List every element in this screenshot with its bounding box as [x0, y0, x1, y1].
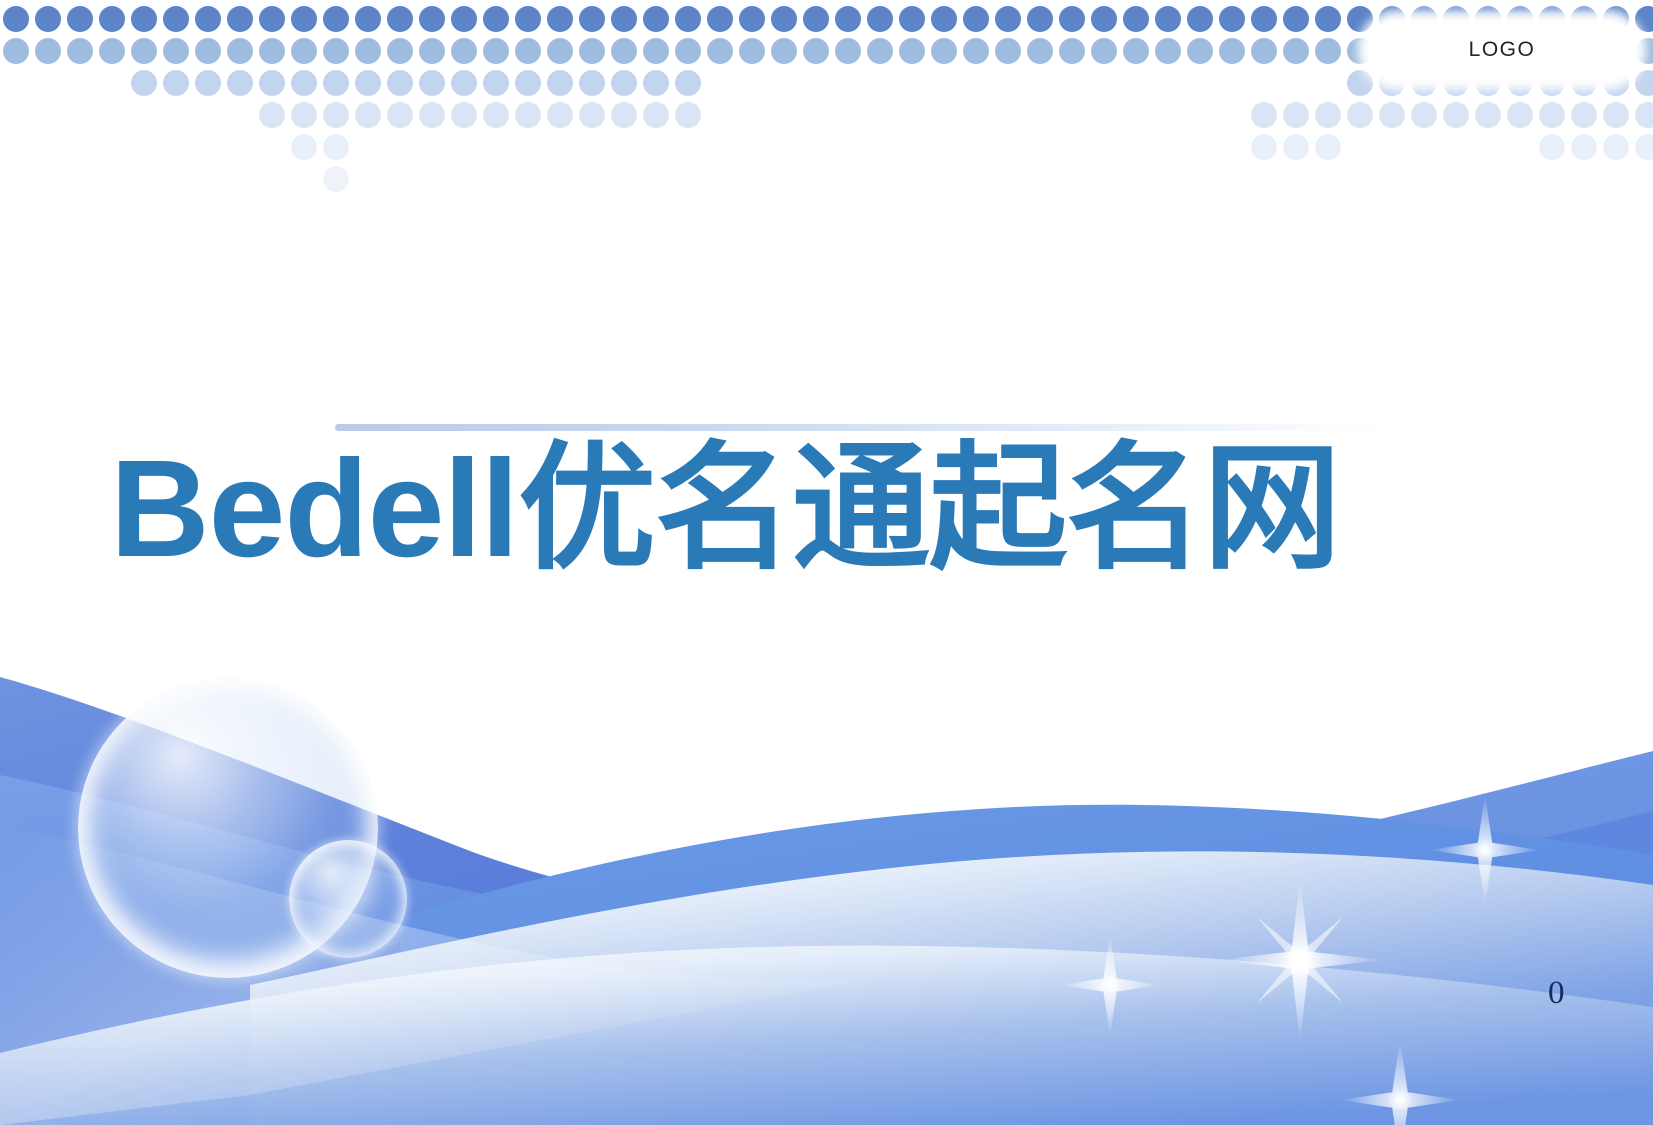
grid-dot — [1283, 38, 1309, 64]
grid-dot — [1283, 6, 1309, 32]
grid-dot — [1315, 134, 1341, 160]
grid-dot — [1283, 102, 1309, 128]
grid-dot — [3, 38, 29, 64]
grid-dot — [1123, 6, 1149, 32]
grid-dot — [1411, 102, 1437, 128]
grid-dot — [163, 6, 189, 32]
grid-dot — [739, 38, 765, 64]
grid-dot — [387, 38, 413, 64]
grid-dot — [867, 38, 893, 64]
grid-dot — [675, 102, 701, 128]
grid-dot — [1347, 70, 1373, 96]
grid-dot — [259, 102, 285, 128]
grid-dot — [1251, 38, 1277, 64]
grid-dot — [963, 6, 989, 32]
logo-placeholder-label: LOGO — [1469, 38, 1536, 62]
grid-dot — [323, 134, 349, 160]
grid-dot — [835, 38, 861, 64]
grid-dot — [547, 70, 573, 96]
grid-dot — [163, 70, 189, 96]
grid-dot — [1219, 6, 1245, 32]
grid-dot — [1635, 102, 1653, 128]
grid-dot — [131, 38, 157, 64]
grid-dot — [995, 38, 1021, 64]
grid-dot — [579, 38, 605, 64]
grid-dot — [99, 6, 125, 32]
grid-dot — [1379, 102, 1405, 128]
grid-dot — [483, 6, 509, 32]
grid-dot — [195, 70, 221, 96]
grid-dot — [419, 102, 445, 128]
grid-dot — [579, 102, 605, 128]
page-number: 0 — [1548, 975, 1565, 1012]
grid-dot — [419, 38, 445, 64]
grid-dot — [707, 38, 733, 64]
grid-dot — [131, 70, 157, 96]
grid-dot — [579, 70, 605, 96]
grid-dot — [547, 38, 573, 64]
grid-dot — [1603, 102, 1629, 128]
grid-dot — [195, 6, 221, 32]
grid-dot — [195, 38, 221, 64]
grid-dot — [899, 6, 925, 32]
grid-dot — [675, 6, 701, 32]
grid-dot — [99, 38, 125, 64]
grid-dot — [611, 70, 637, 96]
grid-dot — [899, 38, 925, 64]
grid-dot — [67, 6, 93, 32]
grid-dot — [611, 38, 637, 64]
grid-dot — [355, 70, 381, 96]
grid-dot — [355, 38, 381, 64]
grid-dot — [547, 6, 573, 32]
grid-dot — [483, 70, 509, 96]
grid-dot — [419, 70, 445, 96]
grid-dot — [835, 6, 861, 32]
grid-dot — [771, 38, 797, 64]
grid-dot — [1539, 102, 1565, 128]
grid-dot — [483, 102, 509, 128]
grid-dot — [1603, 134, 1629, 160]
grid-dot — [323, 102, 349, 128]
grid-dot — [227, 38, 253, 64]
grid-dot — [675, 70, 701, 96]
grid-dot — [291, 38, 317, 64]
grid-dot — [675, 38, 701, 64]
grid-dot — [515, 6, 541, 32]
grid-dot — [643, 70, 669, 96]
grid-dot — [451, 70, 477, 96]
grid-dot — [995, 6, 1021, 32]
grid-dot — [419, 6, 445, 32]
grid-dot — [387, 70, 413, 96]
grid-dot — [355, 102, 381, 128]
grid-dot — [1027, 38, 1053, 64]
grid-dot — [35, 6, 61, 32]
grid-dot — [1315, 6, 1341, 32]
grid-dot — [1059, 38, 1085, 64]
page-title: Bedell优名通起名网 — [110, 436, 1570, 582]
grid-dot — [611, 6, 637, 32]
grid-dot — [515, 38, 541, 64]
logo-placeholder[interactable]: LOGO — [1368, 20, 1636, 80]
grid-dot — [451, 102, 477, 128]
grid-dot — [1283, 134, 1309, 160]
grid-dot — [1219, 38, 1245, 64]
grid-dot — [291, 134, 317, 160]
grid-dot — [1315, 38, 1341, 64]
grid-dot — [227, 6, 253, 32]
grid-dot — [931, 38, 957, 64]
grid-dot — [771, 6, 797, 32]
grid-dot — [259, 70, 285, 96]
grid-dot — [291, 70, 317, 96]
grid-dot — [3, 6, 29, 32]
grid-dot — [483, 38, 509, 64]
grid-dot — [323, 6, 349, 32]
grid-dot — [643, 38, 669, 64]
grid-dot — [355, 6, 381, 32]
bubble-small — [289, 840, 407, 958]
presentation-slide: LOGO Bedell优名通起名网 0 — [0, 0, 1653, 1125]
grid-dot — [643, 6, 669, 32]
grid-dot — [259, 6, 285, 32]
grid-dot — [1027, 6, 1053, 32]
grid-dot — [451, 38, 477, 64]
grid-dot — [1507, 102, 1533, 128]
grid-dot — [707, 6, 733, 32]
grid-dot — [1251, 6, 1277, 32]
grid-dot — [1635, 70, 1653, 96]
grid-dot — [1443, 102, 1469, 128]
grid-dot — [1635, 6, 1653, 32]
grid-dot — [1571, 134, 1597, 160]
grid-dot — [1315, 102, 1341, 128]
grid-dot — [291, 102, 317, 128]
grid-dot — [515, 70, 541, 96]
grid-dot — [387, 6, 413, 32]
grid-dot — [323, 166, 349, 192]
grid-dot — [451, 6, 477, 32]
grid-dot — [387, 102, 413, 128]
grid-dot — [291, 6, 317, 32]
grid-dot — [579, 6, 605, 32]
grid-dot — [1635, 134, 1653, 160]
grid-dot — [1155, 6, 1181, 32]
grid-dot — [611, 102, 637, 128]
grid-dot — [1251, 134, 1277, 160]
grid-dot — [1091, 38, 1117, 64]
grid-dot — [323, 70, 349, 96]
grid-dot — [259, 38, 285, 64]
grid-dot — [643, 102, 669, 128]
grid-dot — [1475, 102, 1501, 128]
grid-dot — [547, 102, 573, 128]
grid-dot — [963, 38, 989, 64]
grid-dot — [1187, 6, 1213, 32]
grid-dot — [35, 38, 61, 64]
grid-dot — [1187, 38, 1213, 64]
grid-dot — [1251, 102, 1277, 128]
grid-dot — [227, 70, 253, 96]
grid-dot — [803, 38, 829, 64]
grid-dot — [1059, 6, 1085, 32]
grid-dot — [131, 6, 157, 32]
grid-dot — [323, 38, 349, 64]
grid-dot — [1347, 102, 1373, 128]
grid-dot — [739, 6, 765, 32]
grid-dot — [67, 38, 93, 64]
grid-dot — [1091, 6, 1117, 32]
grid-dot — [1347, 6, 1373, 32]
title-rule — [335, 424, 1380, 431]
grid-dot — [803, 6, 829, 32]
grid-dot — [1635, 38, 1653, 64]
grid-dot — [1123, 38, 1149, 64]
grid-dot — [1571, 102, 1597, 128]
grid-dot — [1539, 134, 1565, 160]
grid-dot — [1155, 38, 1181, 64]
grid-dot — [515, 102, 541, 128]
grid-dot — [867, 6, 893, 32]
grid-dot — [931, 6, 957, 32]
grid-dot — [163, 38, 189, 64]
